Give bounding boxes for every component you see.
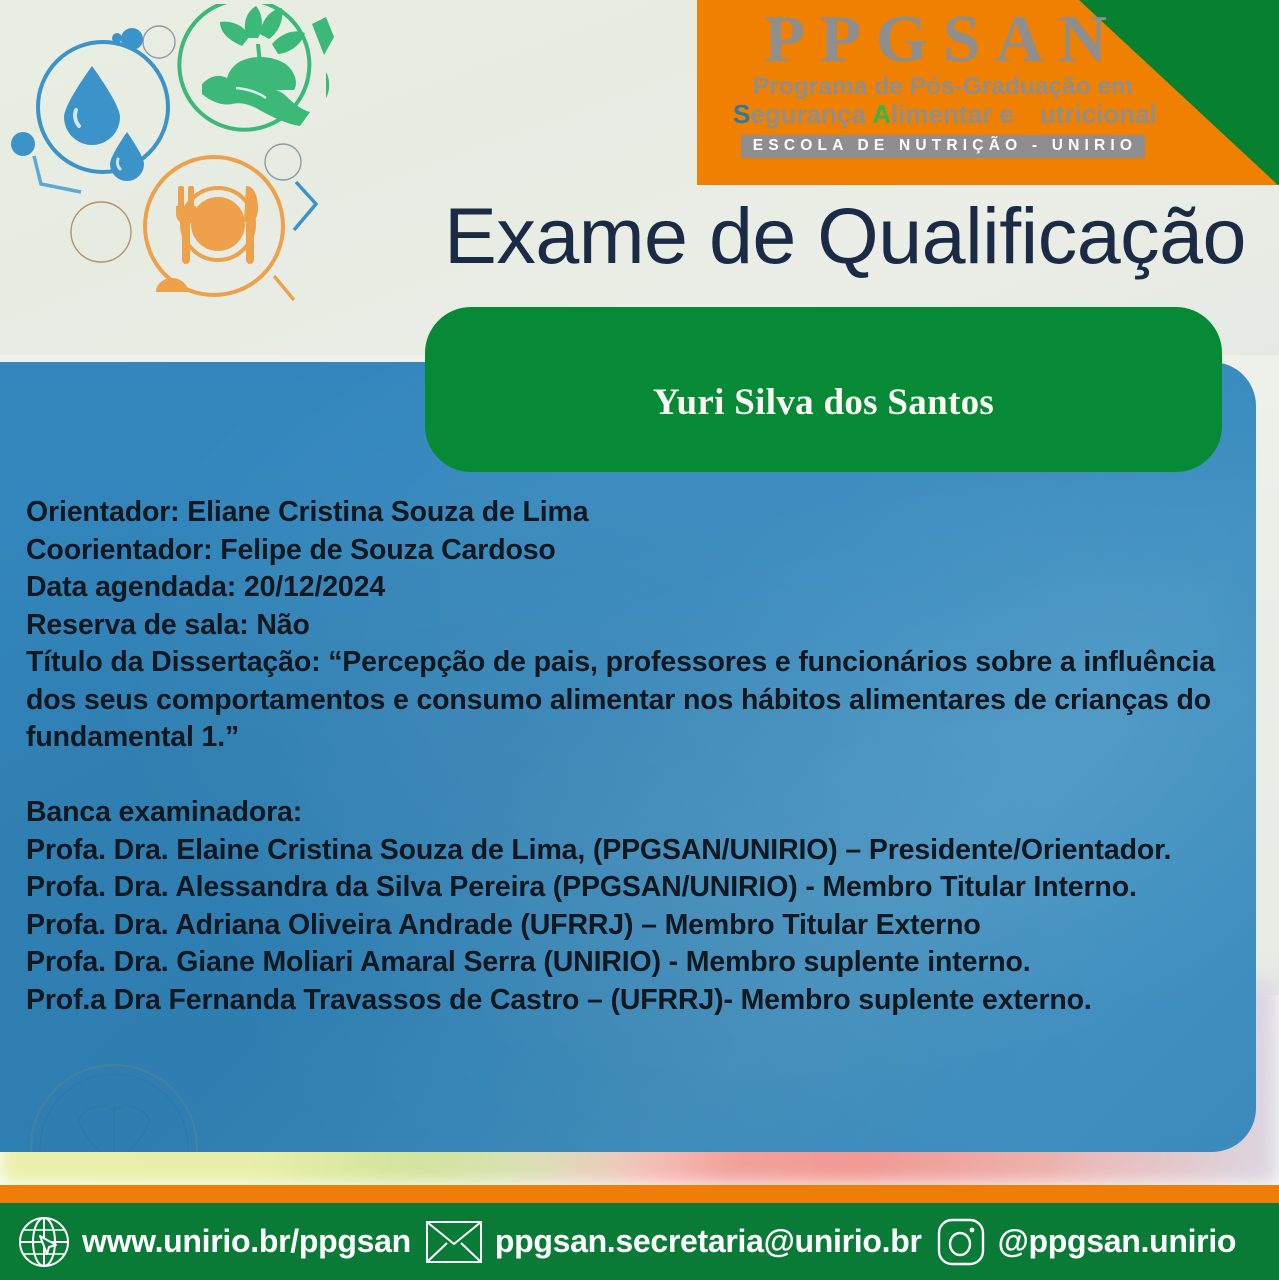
instagram-handle: @ppgsan.unirio — [998, 1223, 1237, 1260]
sustainability-icon-cluster — [6, 4, 351, 324]
logo-a-letter: A — [872, 99, 891, 129]
website-contact[interactable]: www.unirio.br/ppgsan — [18, 1216, 425, 1268]
detail-reserva-sala: Reserva de sala: Não — [26, 607, 1251, 645]
email-contact[interactable]: ppgsan.secretaria@unirio.br — [425, 1218, 936, 1266]
detail-data-agendada: Data agendada: 20/12/2024 — [26, 569, 1251, 607]
banca-member: Profa. Dra. Elaine Cristina Souza de Lim… — [26, 832, 1251, 870]
detail-orientador: Orientador: Eliane Cristina Souza de Lim… — [26, 494, 1251, 532]
envelope-icon — [425, 1218, 483, 1266]
ppgsan-logo-banner: PPGSAN Programa de Pós-Graduação em Segu… — [697, 0, 1279, 185]
orange-divider-stripe — [0, 1185, 1279, 1203]
globe-cursor-icon — [18, 1216, 70, 1268]
banca-member: Profa. Dra. Adriana Oliveira Andrade (UF… — [26, 907, 1251, 945]
email-address: ppgsan.secretaria@unirio.br — [495, 1223, 922, 1260]
detail-coorientador: Coorientador: Felipe de Souza Cardoso — [26, 532, 1251, 570]
logo-subtitle-line1: Programa de Pós-Graduação em — [733, 73, 1153, 100]
logo-n-letter: N — [1021, 99, 1040, 129]
banca-heading: Banca examinadora: — [26, 794, 1251, 832]
decor-circle-small — [143, 26, 175, 58]
paragraph-spacer — [26, 757, 1251, 795]
student-name: Yuri Silva dos Santos — [653, 381, 994, 424]
unirio-school-seal-watermark: Escola de Nutrição — [28, 1062, 200, 1152]
banca-member: Profa. Dra. Giane Moliari Amaral Serra (… — [26, 944, 1251, 982]
student-name-box: Yuri Silva dos Santos — [425, 307, 1222, 472]
instagram-icon — [936, 1217, 986, 1267]
page-title: Exame de Qualificação — [0, 196, 1246, 275]
logo-subtitle-line2: Segurança Alimentar e Nutricional — [733, 100, 1153, 129]
poster-root: PPGSAN Programa de Pós-Graduação em Segu… — [0, 0, 1279, 1280]
plant-in-hand-icon — [179, 4, 334, 130]
logo-school-bar: ESCOLA DE NUTRIÇÃO - UNIRIO — [741, 135, 1145, 158]
decor-circle-right — [265, 144, 301, 180]
logo-utricional-text: utricional — [1040, 99, 1157, 129]
details-block: Orientador: Eliane Cristina Souza de Lim… — [26, 494, 1251, 1019]
website-url: www.unirio.br/ppgsan — [82, 1223, 411, 1260]
logo-s-letter: S — [733, 99, 750, 129]
water-drop-icon — [11, 28, 168, 192]
contact-footer: www.unirio.br/ppgsan ppgsan.secretaria@u… — [0, 1203, 1279, 1280]
logo-seguranca-text: egurança — [750, 99, 872, 129]
banca-member: Prof.a Dra Fernanda Travassos de Castro … — [26, 982, 1251, 1020]
detail-titulo-dissertacao: Título da Dissertação: “Percepção de pai… — [26, 644, 1251, 757]
logo-alimentar-text: limentar e — [891, 99, 1021, 129]
logo-content: PPGSAN Programa de Pós-Graduação em Segu… — [733, 6, 1153, 158]
instagram-contact[interactable]: @ppgsan.unirio — [936, 1217, 1251, 1267]
logo-acronym: PPGSAN — [733, 6, 1153, 73]
banca-member: Profa. Dra. Alessandra da Silva Pereira … — [26, 869, 1251, 907]
